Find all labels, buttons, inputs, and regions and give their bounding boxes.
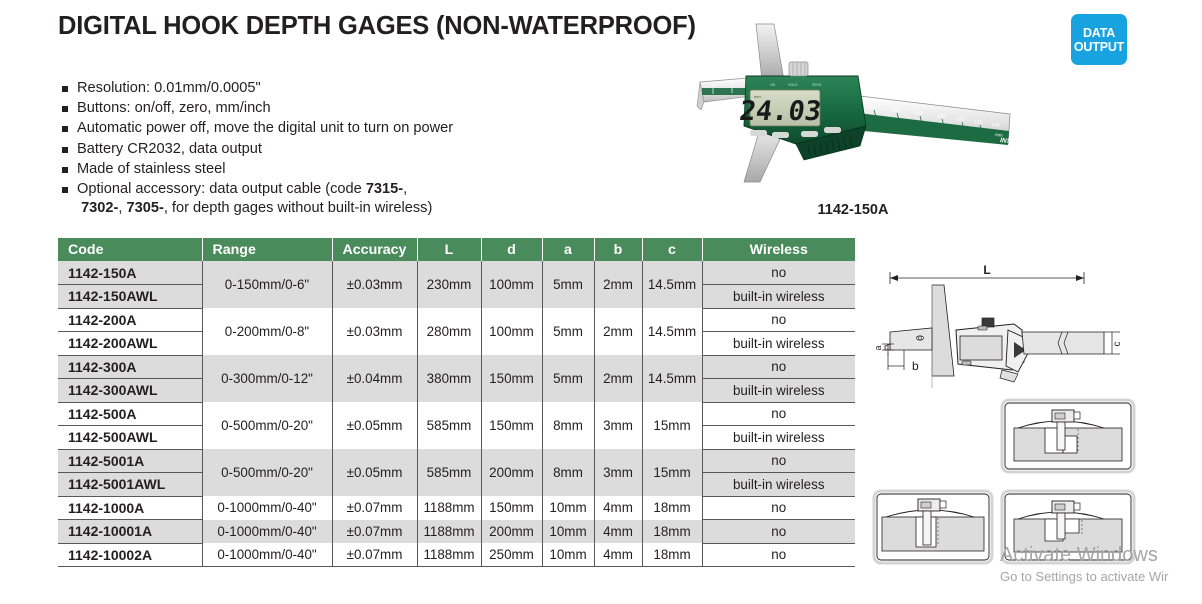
feature-text-optional-accessory: Optional accessory: data output cable (c… — [77, 180, 432, 217]
svg-text:100: 100 — [891, 107, 900, 114]
cell-b: 3mm — [594, 449, 642, 496]
cell-c: 15mm — [642, 402, 702, 449]
cell-wireless: no — [702, 308, 855, 332]
dimension-drawing-svg: L d a b — [872, 258, 1194, 388]
svg-text:120: 120 — [937, 113, 946, 120]
table-row: 1142-150A0-150mm/0-6"±0.03mm230mm100mm5m… — [58, 261, 855, 285]
cell-code: 1142-300AWL — [58, 379, 202, 403]
svg-text:OFF: OFF — [751, 132, 758, 136]
cell-wireless: no — [702, 355, 855, 379]
cell-L: 280mm — [417, 308, 481, 355]
list-item: Resolution: 0.01mm/0.0005" — [62, 79, 582, 98]
cell-wireless: no — [702, 496, 855, 520]
cell-code: 1142-200AWL — [58, 332, 202, 356]
svg-text:140: 140 — [974, 119, 983, 126]
cell-code: 1142-5001A — [58, 449, 202, 473]
cell-b: 2mm — [594, 261, 642, 308]
list-item: Optional accessory: data output cable (c… — [62, 180, 582, 217]
table-row: 1142-1000A0-1000mm/0-40"±0.07mm1188mm150… — [58, 496, 855, 520]
feature-list: Resolution: 0.01mm/0.0005" Buttons: on/o… — [62, 79, 582, 219]
cell-d: 200mm — [481, 520, 542, 544]
svg-text:ZERO: ZERO — [812, 83, 822, 87]
column-header-code: Code — [58, 238, 202, 261]
cell-d: 150mm — [481, 496, 542, 520]
list-item: Buttons: on/off, zero, mm/inch — [62, 99, 582, 118]
svg-text:150: 150 — [991, 122, 1000, 129]
table-row: 1142-5001A0-500mm/0-20"±0.05mm585mm200mm… — [58, 449, 855, 473]
application-diagram-3-svg — [1000, 489, 1136, 565]
square-bullet-icon — [62, 167, 68, 173]
cell-range: 0-1000mm/0-40" — [202, 543, 332, 567]
cell-a: 5mm — [542, 308, 594, 355]
cell-wireless: built-in wireless — [702, 285, 855, 309]
square-bullet-icon — [62, 86, 68, 92]
column-header-wireless: Wireless — [702, 238, 855, 261]
svg-text:0: 0 — [712, 83, 715, 88]
column-header-c: c — [642, 238, 702, 261]
feature-text: Made of stainless steel — [77, 160, 225, 179]
specification-table: Code Range Accuracy L d a b c Wireless 1… — [58, 238, 855, 567]
cell-a: 10mm — [542, 496, 594, 520]
cell-range: 0-200mm/0-8" — [202, 308, 332, 355]
feature-text: Automatic power off, move the digital un… — [77, 119, 453, 138]
cell-range: 0-1000mm/0-40" — [202, 520, 332, 544]
svg-text:130: 130 — [956, 116, 965, 123]
cell-L: 1188mm — [417, 543, 481, 567]
cell-b: 2mm — [594, 308, 642, 355]
cell-c: 14.5mm — [642, 308, 702, 355]
cell-b: 3mm — [594, 402, 642, 449]
cell-a: 8mm — [542, 402, 594, 449]
dimension-drawing: L d a b — [872, 258, 1194, 388]
cell-b: 4mm — [594, 543, 642, 567]
cell-d: 100mm — [481, 308, 542, 355]
product-datasheet-page: DIGITAL HOOK DEPTH GAGES (NON-WATERPROOF… — [0, 0, 1202, 604]
list-item: Battery CR2032, data output — [62, 140, 582, 159]
dim-label-a: a — [873, 345, 883, 350]
cell-code: 1142-150A — [58, 261, 202, 285]
cell-accuracy: ±0.04mm — [332, 355, 417, 402]
cell-wireless: built-in wireless — [702, 332, 855, 356]
depth-gage-illustration: 010 90 100 110 120 130 140 150 — [688, 14, 1018, 196]
column-header-range: Range — [202, 238, 332, 261]
cell-wireless: built-in wireless — [702, 426, 855, 450]
lcd-value: 24.03 — [737, 96, 823, 127]
cell-b: 4mm — [594, 496, 642, 520]
cell-c: 14.5mm — [642, 261, 702, 308]
application-diagram-1 — [1000, 398, 1136, 474]
table-row: 1142-500A0-500mm/0-20"±0.05mm585mm150mm8… — [58, 402, 855, 426]
table-row: 1142-300A0-300mm/0-12"±0.04mm380mm150mm5… — [58, 355, 855, 379]
cell-a: 8mm — [542, 449, 594, 496]
cell-wireless: no — [702, 543, 855, 567]
column-header-a: a — [542, 238, 594, 261]
cell-code: 1142-500A — [58, 402, 202, 426]
table-row: 1142-10002A0-1000mm/0-40"±0.07mm1188mm25… — [58, 543, 855, 567]
table-header-row: Code Range Accuracy L d a b c Wireless — [58, 238, 855, 261]
cell-b: 4mm — [594, 520, 642, 544]
cell-d: 100mm — [481, 261, 542, 308]
cell-wireless: no — [702, 261, 855, 285]
cell-wireless: no — [702, 402, 855, 426]
cell-b: 2mm — [594, 355, 642, 402]
cell-a: 5mm — [542, 261, 594, 308]
cell-range: 0-300mm/0-12" — [202, 355, 332, 402]
feature-text: Buttons: on/off, zero, mm/inch — [77, 99, 271, 118]
cell-d: 150mm — [481, 355, 542, 402]
cell-d: 200mm — [481, 449, 542, 496]
application-diagram-2 — [872, 489, 994, 565]
cell-a: 10mm — [542, 520, 594, 544]
svg-text:ON: ON — [803, 133, 809, 137]
cell-code: 1142-10001A — [58, 520, 202, 544]
data-output-badge-line2: OUTPUT — [1074, 40, 1124, 54]
dim-label-b: b — [912, 359, 919, 373]
cell-wireless: built-in wireless — [702, 473, 855, 497]
cell-d: 250mm — [481, 543, 542, 567]
cell-code: 1142-300A — [58, 355, 202, 379]
cell-L: 585mm — [417, 449, 481, 496]
cell-L: 1188mm — [417, 496, 481, 520]
page-title: DIGITAL HOOK DEPTH GAGES (NON-WATERPROOF… — [58, 12, 696, 41]
cell-L: 585mm — [417, 402, 481, 449]
cell-accuracy: ±0.05mm — [332, 449, 417, 496]
column-header-d: d — [481, 238, 542, 261]
cell-c: 18mm — [642, 520, 702, 544]
feature-text: Resolution: 0.01mm/0.0005" — [77, 79, 261, 98]
cell-accuracy: ±0.07mm — [332, 520, 417, 544]
column-header-accuracy: Accuracy — [332, 238, 417, 261]
cell-wireless: built-in wireless — [702, 379, 855, 403]
svg-text:10: 10 — [730, 81, 736, 86]
cell-range: 0-500mm/0-20" — [202, 402, 332, 449]
square-bullet-icon — [62, 147, 68, 153]
svg-text:INSIZE: INSIZE — [1000, 137, 1018, 146]
square-bullet-icon — [62, 126, 68, 132]
svg-text:110: 110 — [914, 110, 923, 117]
cell-accuracy: ±0.07mm — [332, 543, 417, 567]
table-row: 1142-10001A0-1000mm/0-40"±0.07mm1188mm20… — [58, 520, 855, 544]
cell-accuracy: ±0.05mm — [332, 402, 417, 449]
cell-c: 18mm — [642, 496, 702, 520]
dim-label-c: c — [1112, 342, 1123, 347]
svg-text:ON: ON — [770, 83, 776, 87]
cell-code: 1142-500AWL — [58, 426, 202, 450]
feature-text: Battery CR2032, data output — [77, 140, 262, 159]
cell-code: 1142-5001AWL — [58, 473, 202, 497]
dim-label-d: d — [917, 336, 924, 340]
cell-accuracy: ±0.07mm — [332, 496, 417, 520]
cell-c: 15mm — [642, 449, 702, 496]
data-output-badge-line1: DATA — [1083, 26, 1115, 40]
cell-wireless: no — [702, 449, 855, 473]
cell-accuracy: ±0.03mm — [332, 308, 417, 355]
cell-range: 0-1000mm/0-40" — [202, 496, 332, 520]
svg-text:HOLD: HOLD — [788, 83, 798, 87]
watermark-subtitle: Go to Settings to activate Wir — [1000, 568, 1202, 585]
data-output-badge: DATA OUTPUT — [1071, 14, 1127, 65]
square-bullet-icon — [62, 187, 68, 193]
cell-d: 150mm — [481, 402, 542, 449]
cell-code: 1142-200A — [58, 308, 202, 332]
column-header-b: b — [594, 238, 642, 261]
cell-range: 0-500mm/0-20" — [202, 449, 332, 496]
column-header-l: L — [417, 238, 481, 261]
svg-text:mm/in: mm/in — [773, 134, 782, 138]
application-diagram-1-svg — [1000, 398, 1136, 474]
square-bullet-icon — [62, 106, 68, 112]
cell-a: 5mm — [542, 355, 594, 402]
application-diagram-2-svg — [872, 489, 994, 565]
cell-accuracy: ±0.03mm — [332, 261, 417, 308]
cell-code: 1142-1000A — [58, 496, 202, 520]
table-row: 1142-200A0-200mm/0-8"±0.03mm280mm100mm5m… — [58, 308, 855, 332]
dim-label-L: L — [983, 263, 990, 277]
cell-a: 10mm — [542, 543, 594, 567]
cell-range: 0-150mm/0-6" — [202, 261, 332, 308]
list-item: Automatic power off, move the digital un… — [62, 119, 582, 138]
application-diagram-3 — [1000, 489, 1136, 565]
cell-wireless: no — [702, 520, 855, 544]
cell-code: 1142-10002A — [58, 543, 202, 567]
cell-L: 230mm — [417, 261, 481, 308]
product-photo: 010 90 100 110 120 130 140 150 — [688, 14, 1018, 196]
svg-text:90: 90 — [868, 105, 874, 112]
product-caption: 1142-150A — [688, 202, 1018, 218]
list-item: Made of stainless steel — [62, 160, 582, 179]
cell-L: 380mm — [417, 355, 481, 402]
cell-code: 1142-150AWL — [58, 285, 202, 309]
cell-L: 1188mm — [417, 520, 481, 544]
cell-c: 14.5mm — [642, 355, 702, 402]
cell-c: 18mm — [642, 543, 702, 567]
